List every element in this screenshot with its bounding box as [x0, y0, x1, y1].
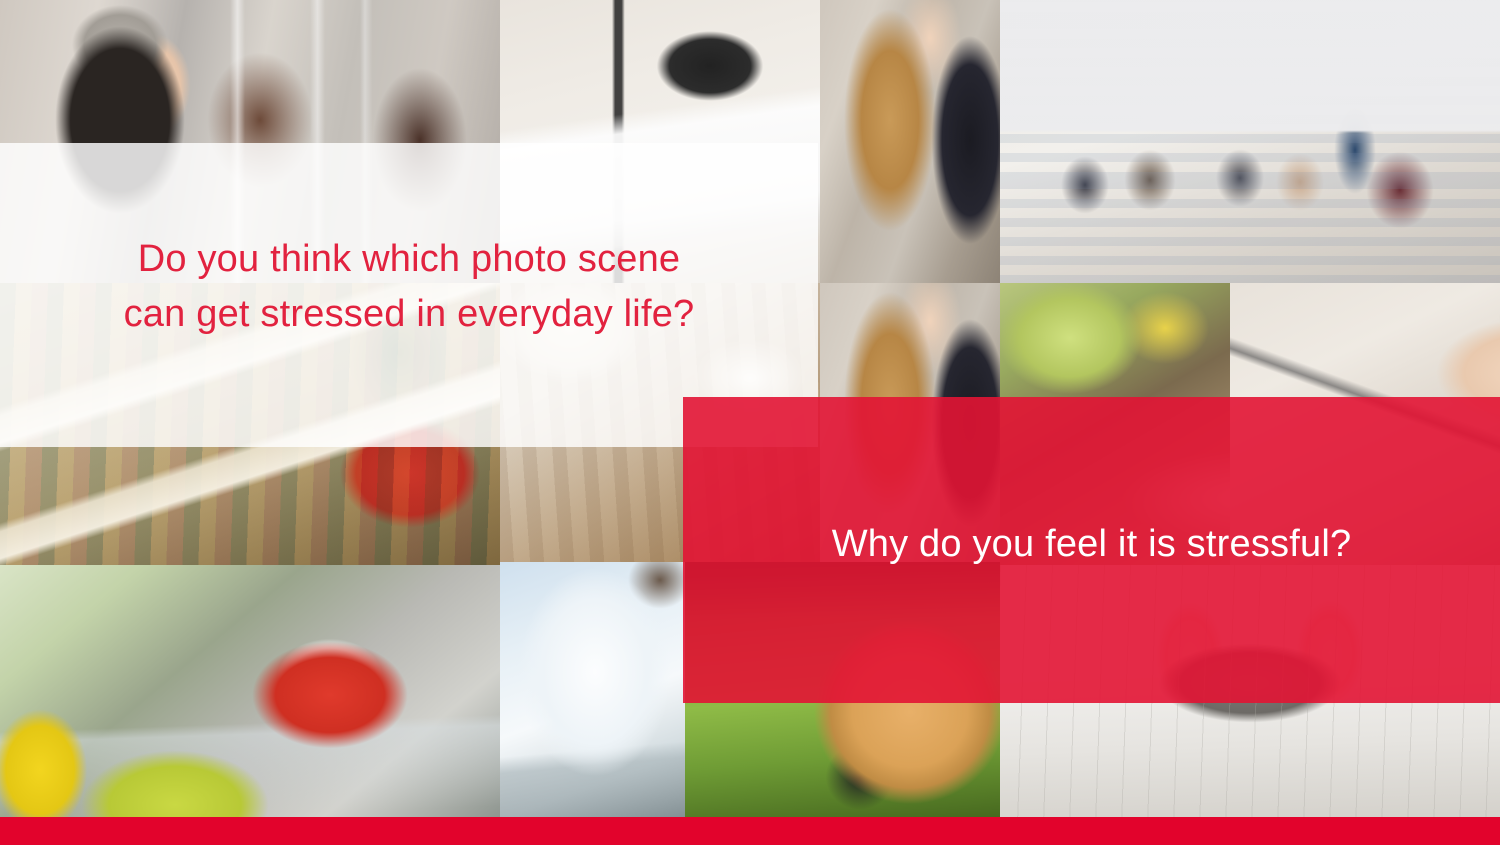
question-headline-secondary: Why do you feel it is stressful?: [683, 520, 1500, 569]
photo-woman-standing-desk: [820, 0, 1000, 283]
photo-lecture-hall: [1000, 0, 1500, 283]
slide-root: Do you think which photo scene can get s…: [0, 0, 1500, 845]
photo-washing-dishes-image: [0, 565, 500, 817]
photo-washing-dishes: [0, 565, 500, 817]
photo-folding-shirt-image: [500, 562, 685, 817]
photo-feet-on-scale-image: [1000, 565, 1500, 817]
photo-dog-on-grass: [685, 562, 1000, 817]
photo-folding-shirt: [500, 562, 685, 817]
question-headline-primary: Do you think which photo scene can get s…: [0, 232, 818, 343]
photo-dog-on-grass-image: [685, 562, 1000, 817]
photo-woman-standing-desk-image: [820, 0, 1000, 283]
bottom-accent-bar: [0, 817, 1500, 845]
photo-feet-on-scale: [1000, 565, 1500, 817]
photo-collage: [0, 0, 1500, 817]
photo-lecture-hall-image: [1000, 0, 1500, 283]
